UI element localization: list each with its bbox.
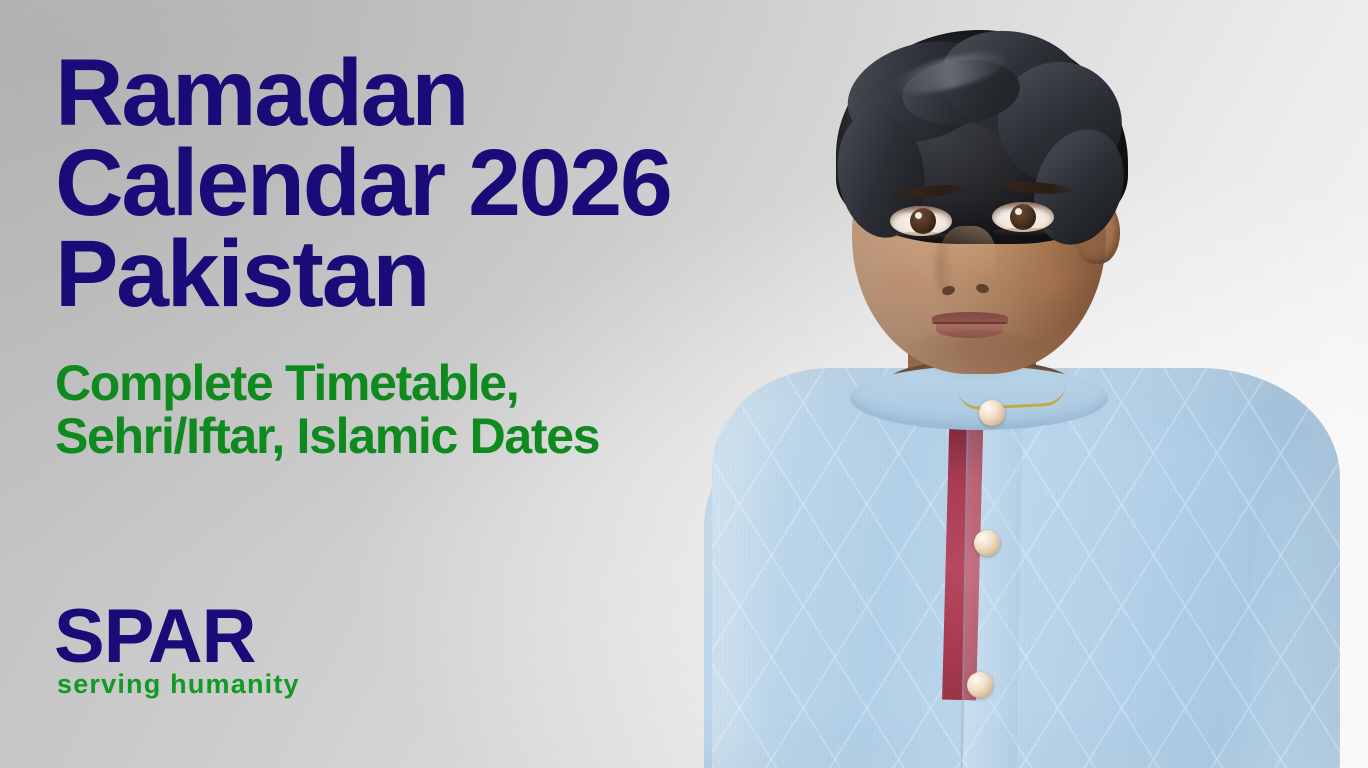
cardigan-knit-texture bbox=[712, 368, 1340, 768]
spar-logo[interactable]: SPAR serving humanity bbox=[54, 602, 300, 700]
logo-wordmark: SPAR bbox=[54, 602, 300, 672]
ramadan-calendar-banner: Ramadan Calendar 2026 Pakistan Complete … bbox=[0, 0, 1368, 768]
page-title: Ramadan Calendar 2026 Pakistan bbox=[55, 48, 785, 319]
undereye-left bbox=[892, 232, 950, 240]
page-subtitle: Complete Timetable, Sehri/Iftar, Islamic… bbox=[55, 357, 785, 463]
headline-block: Ramadan Calendar 2026 Pakistan Complete … bbox=[55, 48, 785, 463]
eyelid-left bbox=[890, 206, 952, 214]
cheek-left bbox=[874, 262, 938, 308]
mouth-line bbox=[934, 322, 1006, 324]
logo-tagline: serving humanity bbox=[57, 669, 300, 700]
eyelid-right bbox=[992, 202, 1054, 210]
cardigan-button-middle bbox=[974, 530, 1000, 556]
cardigan-button-bottom bbox=[967, 672, 993, 698]
cardigan-body bbox=[712, 368, 1340, 768]
chin-shading bbox=[902, 330, 1052, 384]
cardigan-placket bbox=[961, 392, 1024, 768]
cardigan-button-top bbox=[979, 400, 1005, 426]
undereye-right bbox=[994, 228, 1054, 236]
cheek-right bbox=[1022, 258, 1086, 304]
